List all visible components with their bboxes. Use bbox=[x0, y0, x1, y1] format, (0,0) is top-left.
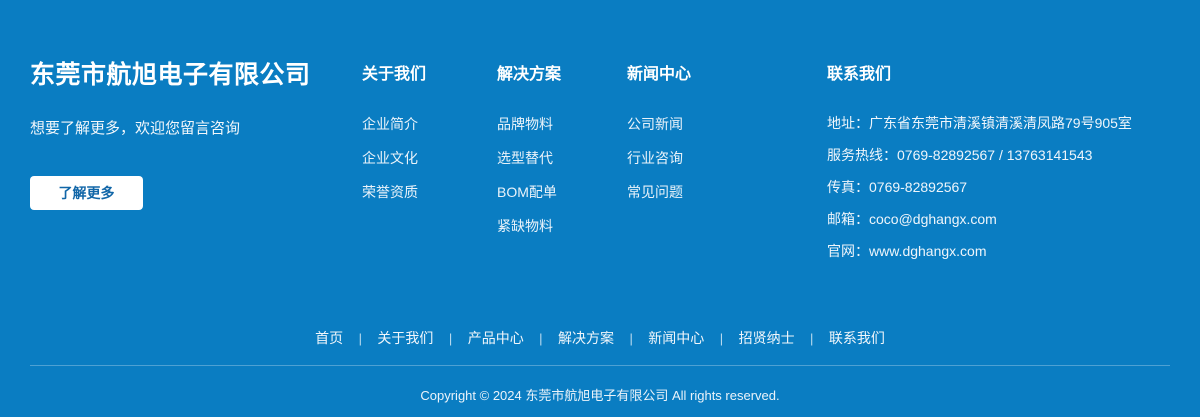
brand-subtitle: 想要了解更多，欢迎您留言咨询 bbox=[30, 92, 340, 140]
footer-main-region: 东莞市航旭电子有限公司 想要了解更多，欢迎您留言咨询 了解更多 关于我们 企业简… bbox=[0, 0, 1200, 310]
footer-link-company-news[interactable]: 公司新闻 bbox=[627, 116, 683, 132]
list-item: 企业文化 bbox=[362, 150, 426, 168]
contact-hotline: 服务热线：0769-82892567 / 13763141543 bbox=[827, 146, 1177, 164]
column-title-solutions: 解决方案 bbox=[497, 64, 561, 86]
nav-link-contact-us[interactable]: 联系我们 bbox=[829, 330, 885, 346]
nav-separator: | bbox=[618, 331, 643, 346]
footer-link-scarce-materials[interactable]: 紧缺物料 bbox=[497, 218, 553, 234]
contact-detail-list: 地址：广东省东莞市清溪镇清溪清凤路79号905室 服务热线：0769-82892… bbox=[827, 114, 1177, 260]
list-item: BOM配单 bbox=[497, 184, 561, 202]
nav-separator: | bbox=[709, 331, 734, 346]
contact-fax: 传真：0769-82892567 bbox=[827, 178, 1177, 196]
footer-link-alternative-selection[interactable]: 选型替代 bbox=[497, 150, 553, 166]
nav-link-product-center[interactable]: 产品中心 bbox=[468, 330, 524, 346]
footer-column-about: 关于我们 企业简介 企业文化 荣誉资质 bbox=[362, 64, 426, 218]
brand-block: 东莞市航旭电子有限公司 想要了解更多，欢迎您留言咨询 了解更多 bbox=[30, 58, 340, 210]
list-item: 品牌物料 bbox=[497, 116, 561, 134]
nav-link-about-us[interactable]: 关于我们 bbox=[377, 330, 433, 346]
contact-website: 官网：www.dghangx.com bbox=[827, 242, 1177, 260]
nav-link-careers[interactable]: 招贤纳士 bbox=[739, 330, 795, 346]
column-title-about: 关于我们 bbox=[362, 64, 426, 86]
footer-link-company-culture[interactable]: 企业文化 bbox=[362, 150, 418, 166]
copyright-text: Copyright © 2024 东莞市航旭电子有限公司 All rights … bbox=[0, 386, 1200, 406]
footer-link-bom-matching[interactable]: BOM配单 bbox=[497, 184, 557, 200]
nav-link-solutions[interactable]: 解决方案 bbox=[558, 330, 614, 346]
column-link-list-news: 公司新闻 行业咨询 常见问题 bbox=[627, 116, 691, 202]
list-item: 常见问题 bbox=[627, 184, 691, 202]
footer-column-solutions: 解决方案 品牌物料 选型替代 BOM配单 紧缺物料 bbox=[497, 64, 561, 252]
column-link-list-about: 企业简介 企业文化 荣誉资质 bbox=[362, 116, 426, 202]
footer-column-news: 新闻中心 公司新闻 行业咨询 常见问题 bbox=[627, 64, 691, 218]
footer-column-contact: 联系我们 地址：广东省东莞市清溪镇清溪清凤路79号905室 服务热线：0769-… bbox=[827, 64, 1177, 274]
footer-link-company-profile[interactable]: 企业简介 bbox=[362, 116, 418, 132]
nav-separator: | bbox=[438, 331, 463, 346]
nav-link-news-center[interactable]: 新闻中心 bbox=[648, 330, 704, 346]
list-item: 行业咨询 bbox=[627, 150, 691, 168]
footer-link-faq[interactable]: 常见问题 bbox=[627, 184, 683, 200]
list-item: 紧缺物料 bbox=[497, 218, 561, 236]
column-link-list-solutions: 品牌物料 选型替代 BOM配单 紧缺物料 bbox=[497, 116, 561, 236]
contact-email: 邮箱：coco@dghangx.com bbox=[827, 210, 1177, 228]
list-item: 企业简介 bbox=[362, 116, 426, 134]
company-name-title: 东莞市航旭电子有限公司 bbox=[30, 58, 340, 92]
nav-link-home[interactable]: 首页 bbox=[315, 330, 343, 346]
footer-link-honors[interactable]: 荣誉资质 bbox=[362, 184, 418, 200]
footer-bottom-nav: 首页 | 关于我们 | 产品中心 | 解决方案 | 新闻中心 | 招贤纳士 | … bbox=[0, 328, 1200, 348]
contact-address: 地址：广东省东莞市清溪镇清溪清凤路79号905室 bbox=[827, 114, 1177, 132]
nav-separator: | bbox=[528, 331, 553, 346]
footer-link-industry-news[interactable]: 行业咨询 bbox=[627, 150, 683, 166]
footer-divider bbox=[30, 365, 1170, 366]
list-item: 选型替代 bbox=[497, 150, 561, 168]
nav-separator: | bbox=[799, 331, 824, 346]
footer-link-brand-materials[interactable]: 品牌物料 bbox=[497, 116, 553, 132]
list-item: 公司新闻 bbox=[627, 116, 691, 134]
column-title-contact: 联系我们 bbox=[827, 64, 1177, 86]
list-item: 荣誉资质 bbox=[362, 184, 426, 202]
site-footer: 东莞市航旭电子有限公司 想要了解更多，欢迎您留言咨询 了解更多 关于我们 企业简… bbox=[0, 0, 1200, 417]
nav-separator: | bbox=[348, 331, 373, 346]
column-title-news: 新闻中心 bbox=[627, 64, 691, 86]
learn-more-button[interactable]: 了解更多 bbox=[30, 176, 143, 210]
